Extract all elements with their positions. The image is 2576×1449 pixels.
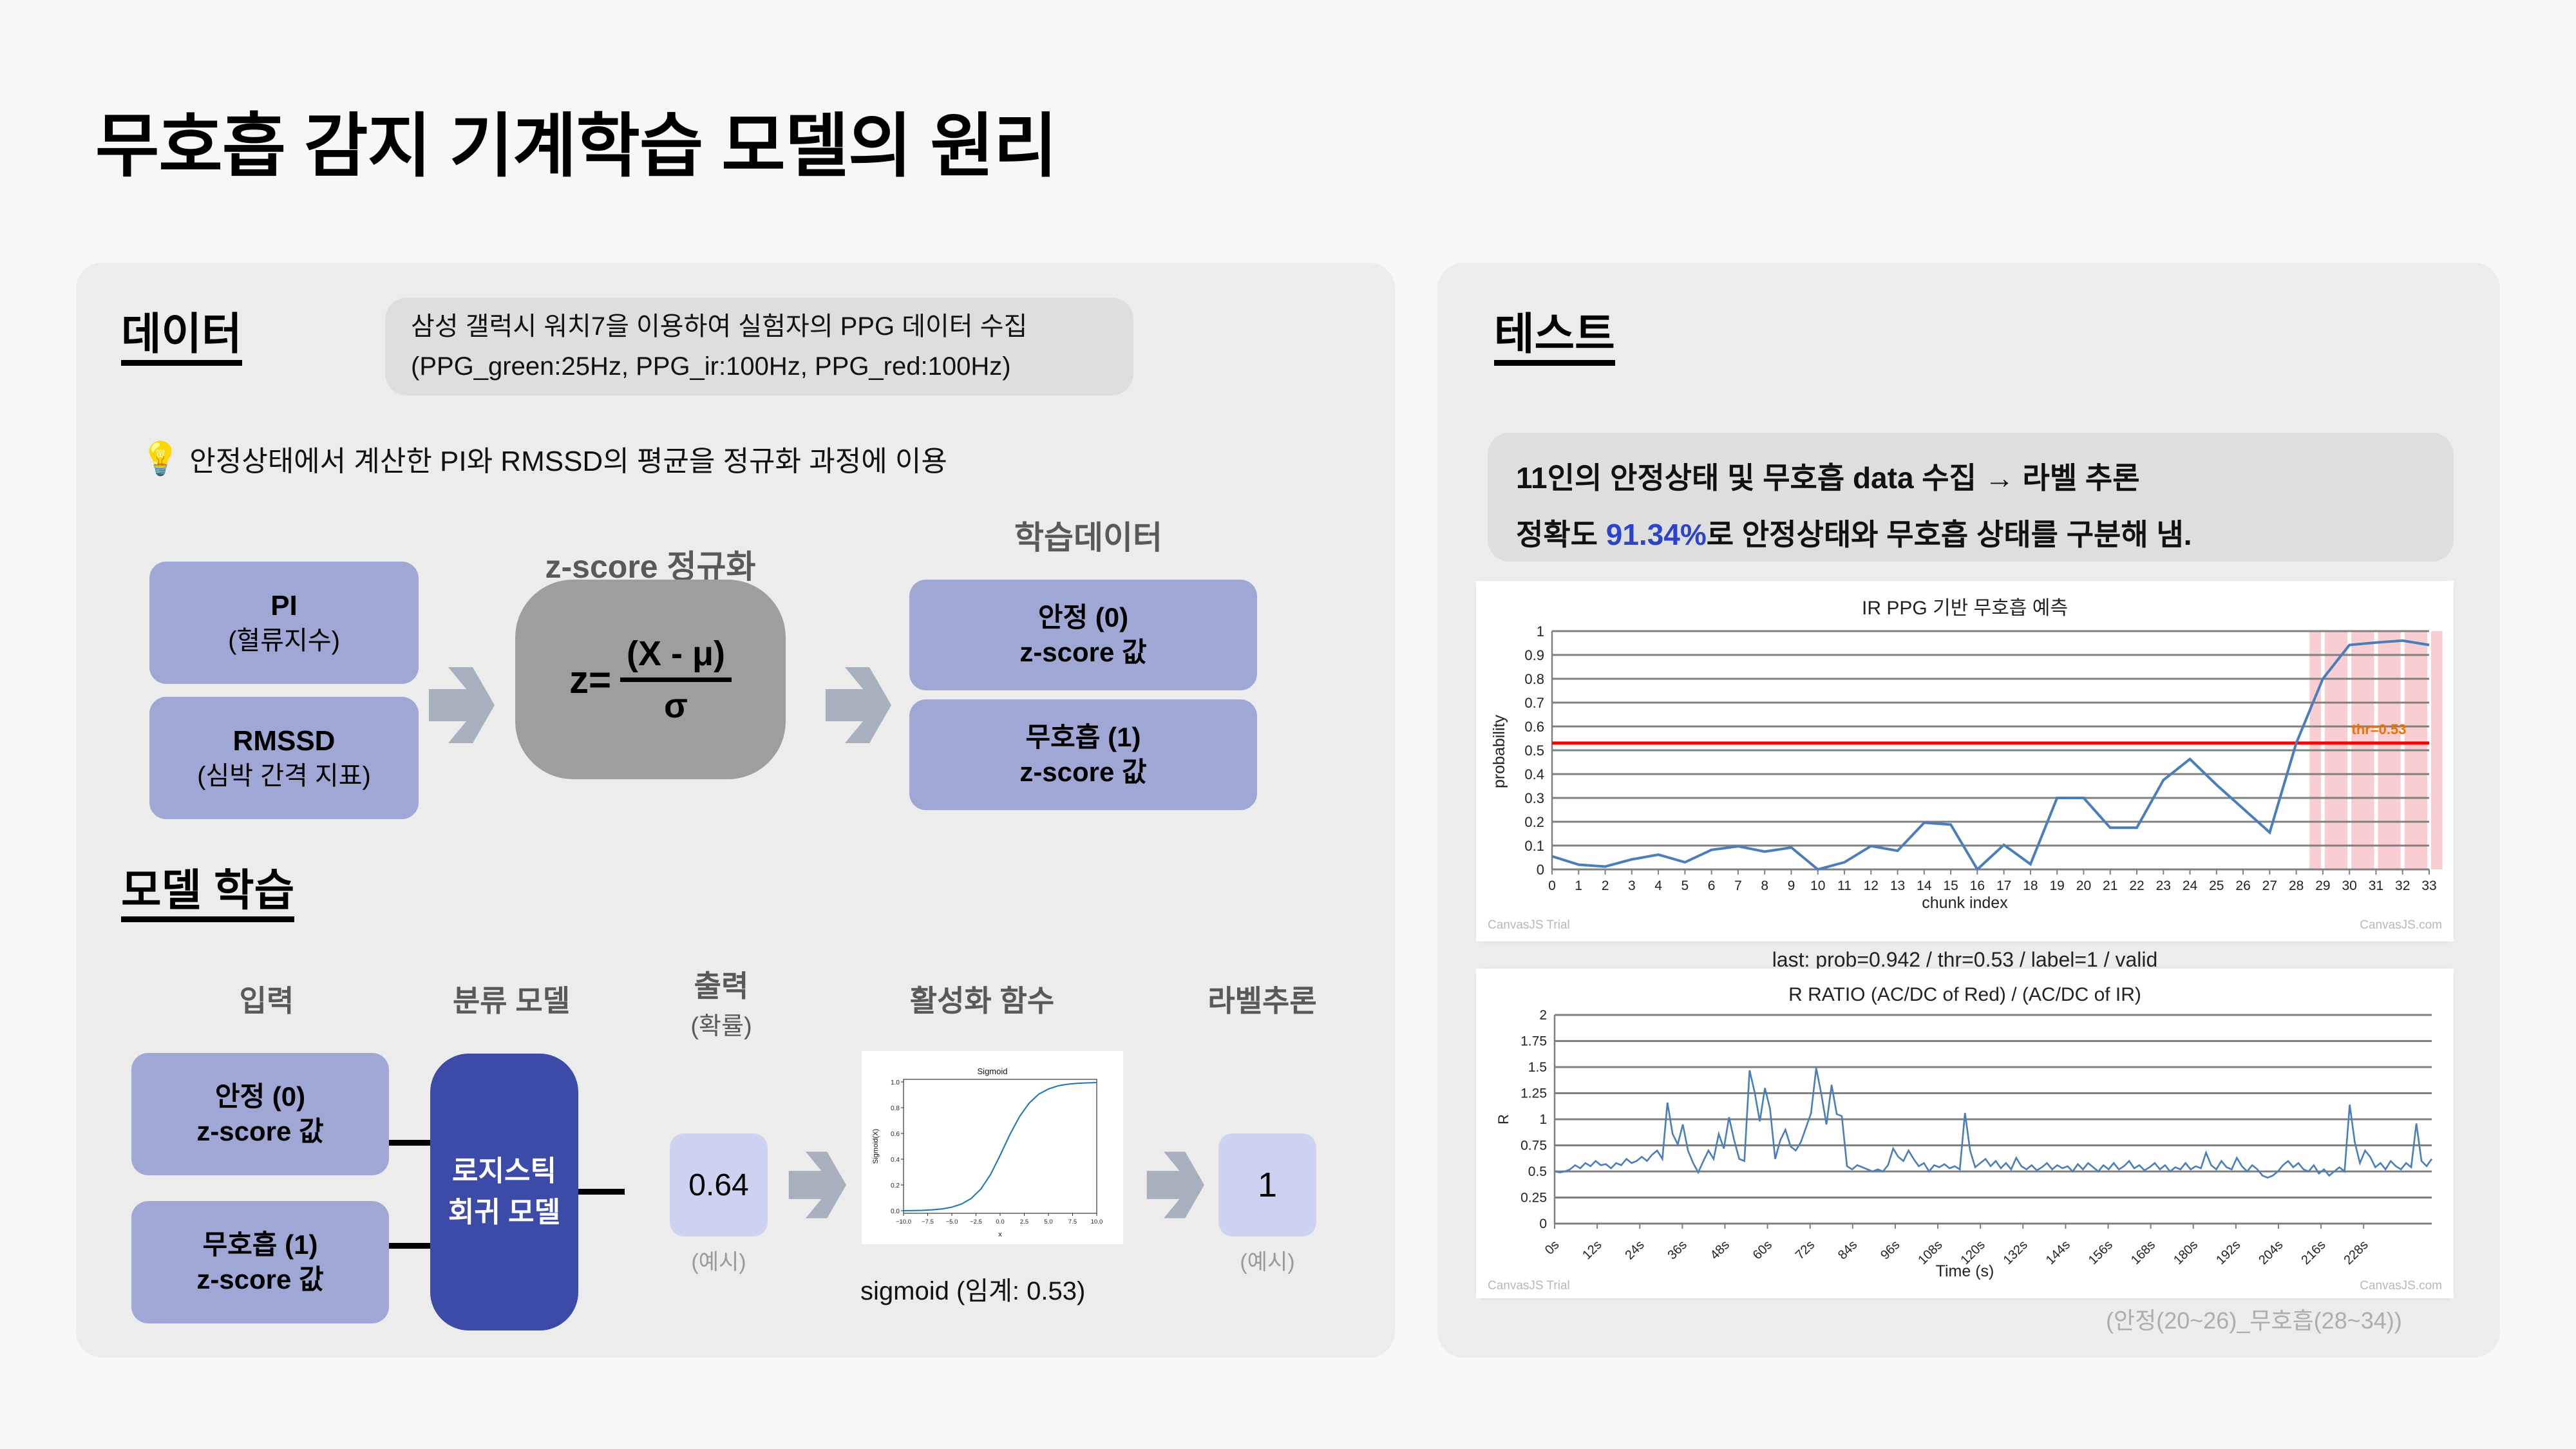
connector-apnea-to-model: [389, 1243, 434, 1249]
output-box-apnea-line2: z-score 값: [1019, 755, 1146, 790]
svg-text:probability: probability: [1490, 715, 1508, 788]
svg-text:0.3: 0.3: [1524, 790, 1544, 806]
model-section-heading: 모델 학습: [121, 868, 294, 922]
input-box-rmssd: RMSSD (심박 간격 지표): [149, 697, 419, 819]
input-box-pi-title: PI: [270, 588, 298, 624]
svg-text:0.5: 0.5: [1528, 1164, 1547, 1179]
svg-text:Sigmoid: Sigmoid: [978, 1066, 1008, 1076]
svg-text:5.0: 5.0: [1044, 1218, 1052, 1226]
svg-text:0.5: 0.5: [1524, 743, 1544, 759]
svg-text:1: 1: [1539, 1112, 1547, 1127]
svg-text:0.2: 0.2: [1524, 814, 1544, 830]
svg-text:1.5: 1.5: [1528, 1060, 1547, 1075]
svg-text:32: 32: [2395, 878, 2410, 893]
svg-text:CanvasJS Trial: CanvasJS Trial: [1488, 918, 1570, 932]
svg-text:31: 31: [2369, 878, 2383, 893]
svg-text:0: 0: [1548, 878, 1556, 893]
accuracy-value: 91.34%: [1606, 518, 1707, 551]
svg-text:12: 12: [1864, 878, 1879, 893]
test-summary-callout: 11인의 안정상태 및 무호흡 data 수집 → 라벨 추론 정확도 91.3…: [1488, 433, 2454, 562]
svg-text:0.9: 0.9: [1524, 647, 1544, 663]
svg-text:2: 2: [1602, 878, 1609, 893]
formula-denominator: σ: [664, 686, 688, 726]
svg-text:0: 0: [1539, 1217, 1547, 1231]
svg-text:0.75: 0.75: [1520, 1139, 1547, 1153]
svg-text:0.0: 0.0: [996, 1218, 1004, 1226]
normalization-note-text: 안정상태에서 계산한 PI와 RMSSD의 평균을 정규화 과정에 이용: [189, 438, 947, 479]
probability-example-note: (예시): [670, 1244, 768, 1276]
svg-text:13: 13: [1890, 878, 1905, 893]
input-box-rmssd-title: RMSSD: [233, 723, 336, 759]
svg-text:27: 27: [2262, 878, 2277, 893]
svg-text:CanvasJS Trial: CanvasJS Trial: [1488, 1279, 1570, 1293]
arrow-to-label-icon: [1141, 1143, 1209, 1227]
svg-text:9: 9: [1788, 878, 1795, 893]
svg-text:15: 15: [1943, 878, 1958, 893]
svg-text:CanvasJS.com: CanvasJS.com: [2360, 1279, 2442, 1293]
output-box-normal-line1: 안정 (0): [1038, 600, 1128, 635]
svg-text:19: 19: [2050, 878, 2065, 893]
svg-text:1.25: 1.25: [1520, 1086, 1547, 1101]
svg-text:0.8: 0.8: [1524, 671, 1544, 687]
svg-text:8: 8: [1761, 878, 1768, 893]
chart-card-r-ratio: R RATIO (AC/DC of Red) / (AC/DC of IR) 0…: [1476, 969, 2454, 1298]
col-label-output-sub: (확률): [618, 1006, 824, 1041]
train-input-box-normal: 안정 (0) z-score 값: [131, 1053, 389, 1175]
svg-text:0.8: 0.8: [891, 1105, 900, 1112]
svg-text:−5.0: −5.0: [946, 1218, 958, 1226]
svg-text:chunk index: chunk index: [1922, 894, 2008, 912]
col-label-output: 출력: [618, 963, 824, 1005]
sigmoid-chart: Sigmoid 0.0 0.2 0.4 0.6 0.8 1.0 −10.0 −: [864, 1052, 1121, 1243]
formula-divider: [620, 677, 732, 682]
svg-text:0.0: 0.0: [891, 1208, 900, 1215]
svg-text:16: 16: [1970, 878, 1985, 893]
svg-text:IR PPG 기반 무호흡 예측: IR PPG 기반 무호흡 예측: [1862, 598, 2068, 619]
sigmoid-caption: sigmoid (임계: 0.53): [860, 1270, 1085, 1307]
svg-text:33: 33: [2421, 878, 2436, 893]
input-box-pi: PI (혈류지수): [149, 562, 419, 684]
input-box-rmssd-sub: (심박 간격 지표): [197, 760, 371, 793]
sigmoid-chart-card: Sigmoid 0.0 0.2 0.4 0.6 0.8 1.0 −10.0 −: [862, 1051, 1123, 1244]
predicted-label-example-note: (예시): [1218, 1244, 1316, 1276]
logistic-regression-box: 로지스틱 회귀 모델: [430, 1054, 578, 1331]
train-input-apnea-line2: z-score 값: [196, 1262, 323, 1297]
formula-z-equals: z=: [569, 658, 611, 702]
r-ratio-chart: R RATIO (AC/DC of Red) / (AC/DC of IR) 0…: [1476, 969, 2454, 1298]
connector-normal-to-model: [389, 1140, 434, 1146]
test-summary-line-1: 11인의 안정상태 및 무호흡 data 수집 → 라벨 추론: [1516, 455, 2425, 497]
svg-text:R RATIO (AC/DC of Red) / (AC/D: R RATIO (AC/DC of Red) / (AC/DC of IR): [1788, 984, 2141, 1005]
svg-text:1.75: 1.75: [1520, 1034, 1547, 1049]
svg-text:28: 28: [2289, 878, 2304, 893]
svg-text:0.4: 0.4: [1524, 766, 1544, 782]
data-section-heading: 데이터: [121, 312, 242, 366]
output-box-normal: 안정 (0) z-score 값: [909, 580, 1257, 690]
svg-text:3: 3: [1628, 878, 1636, 893]
svg-text:30: 30: [2342, 878, 2357, 893]
data-callout-line-1: 삼성 갤럭시 워치7을 이용하여 실험자의 PPG 데이터 수집: [411, 307, 1108, 346]
svg-text:−2.5: −2.5: [970, 1218, 982, 1226]
classifier-line-1: 로지스틱: [452, 1151, 556, 1192]
svg-text:17: 17: [1996, 878, 2011, 893]
page-title: 무호흡 감지 기계학습 모델의 원리: [95, 90, 1057, 191]
svg-text:29: 29: [2315, 878, 2330, 893]
svg-text:14: 14: [1917, 878, 1932, 893]
svg-text:11: 11: [1837, 878, 1851, 893]
arrow-to-traindata-icon: [819, 663, 896, 747]
svg-text:Sigmoid(X): Sigmoid(X): [872, 1129, 880, 1164]
test-summary-prefix: 정확도: [1516, 518, 1606, 551]
data-callout: 삼성 갤럭시 워치7을 이용하여 실험자의 PPG 데이터 수집 (PPG_gr…: [385, 298, 1133, 395]
test-summary-suffix: 로 안정상태와 무호흡 상태를 구분해 냄.: [1707, 518, 2192, 551]
svg-text:0.1: 0.1: [1524, 838, 1544, 854]
svg-text:0.2: 0.2: [891, 1182, 900, 1189]
svg-text:7.5: 7.5: [1068, 1218, 1077, 1226]
traindata-label: 학습데이터: [940, 512, 1236, 558]
svg-text:CanvasJS.com: CanvasJS.com: [2360, 918, 2442, 932]
svg-text:26: 26: [2235, 878, 2250, 893]
train-input-normal-line1: 안정 (0): [215, 1079, 305, 1114]
col-label-input: 입력: [131, 978, 402, 1020]
svg-text:18: 18: [2023, 878, 2038, 893]
col-label-label-inference: 라벨추론: [1133, 978, 1391, 1020]
svg-text:1: 1: [1537, 623, 1544, 639]
svg-text:thr=0.53: thr=0.53: [2352, 721, 2407, 737]
svg-text:6: 6: [1708, 878, 1716, 893]
svg-text:2.5: 2.5: [1020, 1218, 1028, 1226]
test-section-heading: 테스트: [1494, 312, 1615, 366]
svg-text:20: 20: [2076, 878, 2091, 893]
svg-text:21: 21: [2103, 878, 2117, 893]
predicted-label-box: 1: [1218, 1133, 1316, 1236]
slide-root: 무호흡 감지 기계학습 모델의 원리 데이터 삼성 갤럭시 워치7을 이용하여 …: [0, 0, 2576, 1449]
probability-box: 0.64: [670, 1133, 768, 1236]
svg-text:24: 24: [2183, 878, 2198, 893]
output-box-apnea-line1: 무호흡 (1): [1026, 720, 1141, 755]
svg-text:0.6: 0.6: [891, 1131, 900, 1138]
arrow-to-formula-icon: [422, 663, 500, 747]
svg-text:25: 25: [2209, 878, 2224, 893]
connector-model-to-probability: [578, 1189, 625, 1195]
svg-text:x: x: [998, 1231, 1002, 1238]
svg-text:1: 1: [1575, 878, 1582, 893]
output-box-normal-line2: z-score 값: [1019, 635, 1146, 670]
svg-text:0.7: 0.7: [1524, 695, 1544, 711]
right-panel-footnote: (안정(20~26)_무호흡(28~34)): [2106, 1302, 2402, 1336]
svg-text:2: 2: [1539, 1008, 1547, 1023]
svg-text:23: 23: [2156, 878, 2171, 893]
classifier-line-2: 회귀 모델: [448, 1192, 560, 1233]
svg-text:10.0: 10.0: [1091, 1218, 1103, 1226]
test-summary-line-2: 정확도 91.34%로 안정상태와 무호흡 상태를 구분해 냄.: [1516, 511, 2425, 554]
ir-ppg-chart: IR PPG 기반 무호흡 예측 00.10.20.30.40.50.60.70…: [1476, 581, 2454, 942]
train-input-apnea-line1: 무호흡 (1): [203, 1227, 318, 1262]
svg-text:R: R: [1495, 1114, 1511, 1124]
svg-text:0.4: 0.4: [891, 1157, 900, 1164]
svg-text:Time (s): Time (s): [1936, 1262, 1994, 1280]
svg-text:−7.5: −7.5: [922, 1218, 934, 1226]
svg-text:1.0: 1.0: [891, 1079, 900, 1086]
svg-text:5: 5: [1681, 878, 1689, 893]
chart-card-ir-ppg: IR PPG 기반 무호흡 예측 00.10.20.30.40.50.60.70…: [1476, 581, 2454, 942]
input-box-pi-sub: (혈류지수): [228, 625, 340, 658]
formula-fraction: (X - μ) σ: [620, 634, 732, 726]
svg-text:22: 22: [2129, 878, 2144, 893]
svg-text:4: 4: [1654, 878, 1662, 893]
col-label-classifier: 분류 모델: [376, 978, 647, 1020]
svg-text:0: 0: [1537, 862, 1544, 878]
svg-text:7: 7: [1734, 878, 1742, 893]
output-box-apnea: 무호흡 (1) z-score 값: [909, 699, 1257, 810]
svg-text:0.6: 0.6: [1524, 719, 1544, 735]
train-input-normal-line2: z-score 값: [196, 1114, 323, 1149]
svg-text:10: 10: [1810, 878, 1825, 893]
formula-numerator: (X - μ): [620, 634, 732, 674]
zscore-formula-capsule: z= (X - μ) σ: [515, 580, 786, 779]
svg-text:0.25: 0.25: [1520, 1191, 1547, 1206]
svg-text:−10.0: −10.0: [896, 1218, 911, 1226]
arrow-to-sigmoid-icon: [783, 1143, 851, 1227]
train-input-box-apnea: 무호흡 (1) z-score 값: [131, 1201, 389, 1323]
normalization-note: 💡 안정상태에서 계산한 PI와 RMSSD의 평균을 정규화 과정에 이용: [140, 438, 947, 479]
lightbulb-icon: 💡: [140, 442, 180, 475]
data-callout-line-2: (PPG_green:25Hz, PPG_ir:100Hz, PPG_red:1…: [411, 346, 1108, 386]
col-label-activation: 활성화 함수: [831, 978, 1133, 1020]
